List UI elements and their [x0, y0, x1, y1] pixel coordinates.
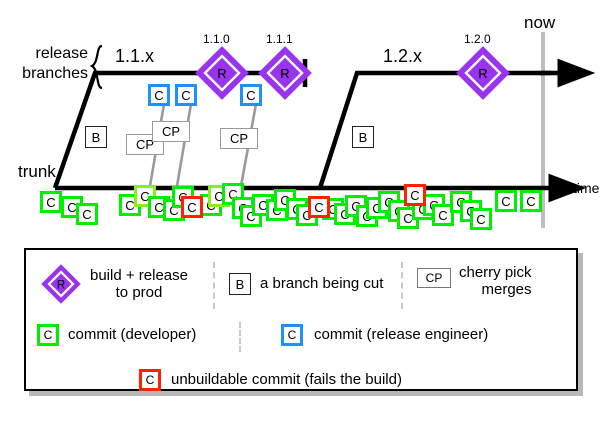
- trunk-commit[interactable]: C: [470, 208, 492, 230]
- commit-glyph: C: [476, 213, 485, 226]
- commit-glyph: C: [501, 195, 510, 208]
- trunk-commit[interactable]: C: [40, 191, 62, 213]
- release-diamond-1-2-0[interactable]: R: [456, 46, 510, 100]
- commit-glyph: C: [181, 89, 190, 102]
- legend-label-commit-developer: commit (developer): [68, 326, 196, 343]
- branch-cut-glyph: B: [236, 277, 245, 292]
- branch-label-1-1-x: 1.1.x: [115, 47, 154, 65]
- legend-item-commit-developer: C commit (developer): [37, 324, 196, 346]
- commit-unbuildable-icon: C: [139, 369, 161, 391]
- commit-glyph: C: [526, 195, 535, 208]
- cherry-pick-glyph: CP: [426, 271, 443, 285]
- branch-cut-marker-1-1-x[interactable]: B: [85, 126, 107, 148]
- cherry-pick-icon: CP: [417, 268, 451, 288]
- trunk-commit[interactable]: C: [76, 203, 98, 225]
- branch-cut-marker-1-2-x[interactable]: B: [352, 126, 374, 148]
- release-diamond-icon: R: [40, 263, 82, 305]
- time-axis-label: time: [573, 181, 599, 195]
- release-version-label-1-1-1: 1.1.1: [266, 33, 293, 45]
- commit-glyph: C: [146, 373, 155, 387]
- branch-cut-glyph: B: [359, 131, 368, 144]
- cherry-pick-arrow: [177, 104, 191, 186]
- commit-glyph: C: [46, 196, 55, 209]
- commit-glyph: C: [410, 189, 419, 202]
- legend-panel: R build + release to prod B a branch bei…: [24, 248, 578, 391]
- commit-release-engineer-icon: C: [281, 324, 303, 346]
- trunk-commit[interactable]: C: [181, 196, 203, 218]
- svg-text:R: R: [280, 66, 289, 81]
- commit-glyph: C: [288, 328, 297, 342]
- legend-item-build-release: R build + release to prod: [40, 263, 188, 305]
- trunk-label: trunk: [18, 163, 56, 180]
- cherry-pick-glyph: CP: [230, 132, 248, 145]
- release-diamond-1-1-1[interactable]: R: [258, 46, 312, 100]
- cherry-pick-marker-2[interactable]: CP: [152, 121, 190, 142]
- legend-label-line2: merges: [482, 281, 532, 298]
- trunk-commit[interactable]: C: [495, 190, 517, 212]
- commit-glyph: C: [187, 201, 196, 214]
- legend-item-commit-release-engineer: C commit (release engineer): [281, 324, 488, 346]
- commit-developer-icon: C: [37, 324, 59, 346]
- release-engineer-commit[interactable]: C: [240, 84, 262, 106]
- legend-item-cherry-pick: CP cherry pick merges: [417, 264, 532, 299]
- cherry-pick-marker-3[interactable]: CP: [220, 128, 258, 149]
- trunk-commit[interactable]: C: [404, 184, 426, 206]
- legend-label-build-release: build + release to prod: [90, 267, 188, 302]
- commit-glyph: C: [44, 328, 53, 342]
- commit-glyph: C: [82, 208, 91, 221]
- diagram-canvas: R R R release branches 1.1.x 1.2.x 1.1.0…: [0, 0, 611, 430]
- cherry-pick-glyph: CP: [162, 125, 180, 138]
- legend-label-line2: to prod: [116, 284, 163, 301]
- legend-label-cherry-pick: cherry pick merges: [459, 264, 532, 299]
- release-engineer-commit[interactable]: C: [148, 84, 170, 106]
- release-version-label-1-2-0: 1.2.0: [464, 33, 491, 45]
- svg-text:R: R: [217, 66, 226, 81]
- release-branches-label: release branches: [20, 44, 88, 84]
- legend-separator-1: [213, 262, 215, 309]
- commit-glyph: C: [314, 201, 323, 214]
- legend-label-branch-cut: a branch being cut: [260, 275, 383, 292]
- branch-label-1-2-x: 1.2.x: [383, 47, 422, 65]
- release-branches-label-line2: branches: [20, 64, 88, 84]
- now-label: now: [524, 14, 555, 31]
- branch-cut-icon: B: [229, 273, 251, 295]
- trunk-commit[interactable]: C: [308, 196, 330, 218]
- release-branches-label-line1: release: [20, 44, 88, 64]
- legend-item-branch-cut: B a branch being cut: [229, 273, 383, 295]
- release-engineer-commit[interactable]: C: [175, 84, 197, 106]
- legend-separator-2: [401, 262, 403, 309]
- commit-glyph: C: [246, 89, 255, 102]
- legend-separator-3: [239, 322, 241, 352]
- commit-glyph: C: [154, 89, 163, 102]
- trunk-commit[interactable]: C: [520, 190, 542, 212]
- legend-label-commit-release-engineer: commit (release engineer): [314, 326, 488, 343]
- legend-label-commit-unbuildable: unbuildable commit (fails the build): [171, 371, 402, 388]
- branch-cut-glyph: B: [92, 131, 101, 144]
- release-diamond-svg: R: [40, 263, 82, 305]
- legend-label-line1: cherry pick: [459, 264, 532, 281]
- legend-item-commit-unbuildable: C unbuildable commit (fails the build): [139, 369, 402, 391]
- svg-text:R: R: [57, 280, 65, 292]
- commit-glyph: C: [438, 209, 447, 222]
- legend-label-line1: build + release: [90, 267, 188, 284]
- release-version-label-1-1-0: 1.1.0: [203, 33, 230, 45]
- svg-text:R: R: [478, 66, 487, 81]
